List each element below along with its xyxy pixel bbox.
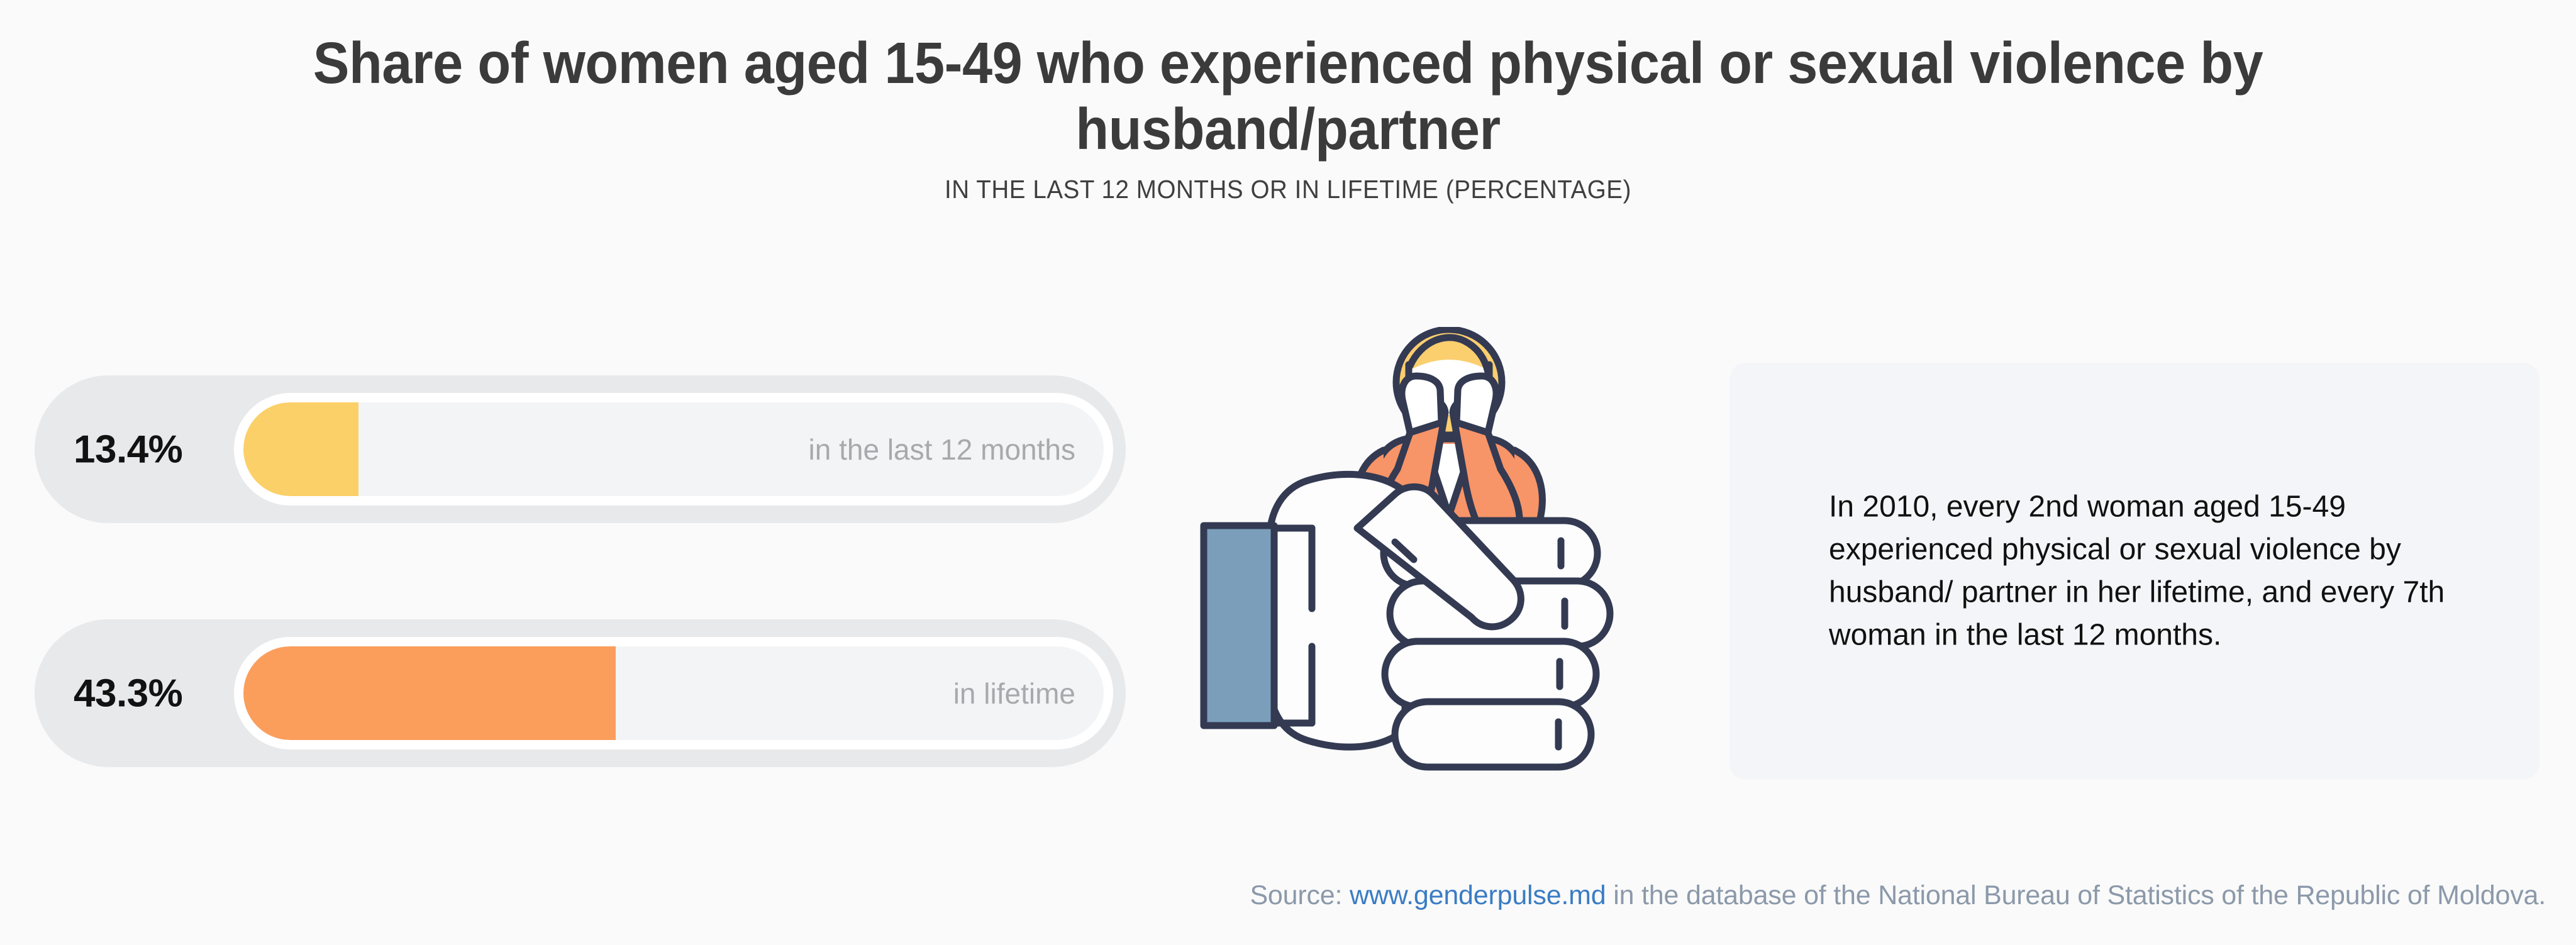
bar-track-last-12-months: in the last 12 months: [243, 402, 1104, 496]
bar-wrap-lifetime: in lifetime: [234, 637, 1113, 749]
page-title: Share of women aged 15-49 who experience…: [90, 0, 2485, 162]
bar-value-lifetime: 43.3%: [74, 671, 182, 716]
bar-label-last-12-months: in the last 12 months: [809, 433, 1075, 467]
source-link[interactable]: www.genderpulse.md: [1350, 880, 1606, 910]
bar-row-lifetime: 43.3% in lifetime: [35, 619, 1126, 767]
source-footer: Source: www.genderpulse.md in the databa…: [0, 880, 2576, 911]
page-subtitle: IN THE LAST 12 MONTHS OR IN LIFETIME (PE…: [77, 162, 2499, 204]
page-title-line-2: husband/partner: [90, 96, 2485, 162]
source-prefix: Source:: [1250, 880, 1350, 910]
source-suffix: in the database of the National Bureau o…: [1606, 880, 2546, 910]
bar-wrap-last-12-months: in the last 12 months: [234, 393, 1113, 506]
bar-fill-last-12-months: [243, 402, 358, 496]
info-panel-text: In 2010, every 2nd woman aged 15-49 expe…: [1829, 485, 2458, 657]
bar-fill-lifetime: [243, 646, 616, 740]
bar-row-last-12-months: 13.4% in the last 12 months: [35, 375, 1126, 523]
bar-value-last-12-months: 13.4%: [74, 427, 182, 472]
header: Share of women aged 15-49 who experience…: [0, 0, 2576, 204]
bar-track-lifetime: in lifetime: [243, 646, 1104, 740]
bar-chart: 13.4% in the last 12 months 43.3% in lif…: [35, 375, 1126, 863]
fist-gripping-woman-illustration: [1195, 327, 1660, 780]
page-title-line-1: Share of women aged 15-49 who experience…: [90, 30, 2485, 96]
bar-label-lifetime: in lifetime: [953, 677, 1075, 710]
info-panel: In 2010, every 2nd woman aged 15-49 expe…: [1729, 363, 2540, 780]
